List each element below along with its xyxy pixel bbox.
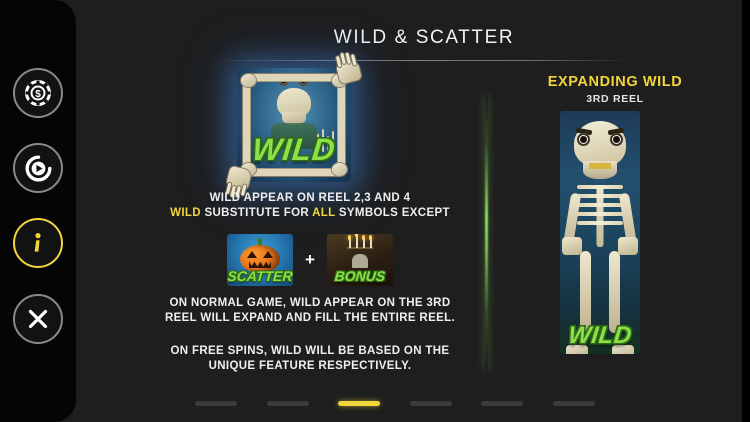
wild-keyword: WILD xyxy=(170,207,201,219)
normal-game-paragraph: ON NORMAL GAME, WILD APPEAR ON THE 3RD R… xyxy=(150,296,470,326)
autoplay-icon xyxy=(25,155,52,182)
svg-text:$: $ xyxy=(35,89,41,100)
expanding-hand-left xyxy=(562,237,582,255)
expanding-hand-right xyxy=(618,237,638,255)
chandelier-icon xyxy=(347,238,373,254)
excluded-symbols-row: SCATTER + BONUS xyxy=(200,234,420,286)
all-keyword: ALL xyxy=(312,207,335,219)
sidebar-item-bet[interactable]: $ xyxy=(13,68,63,118)
tombstone-icon xyxy=(352,254,368,268)
expanding-wild-title: EXPANDING WILD xyxy=(500,74,730,90)
wild-symbol-word: WILD xyxy=(235,132,353,168)
paytable-screen: $ xyxy=(0,0,750,422)
wild-rule-line-2-mid: SUBSTITUTE FOR xyxy=(201,207,312,219)
expanding-leg-left xyxy=(580,251,591,333)
pagination-dot[interactable] xyxy=(338,401,380,406)
pagination xyxy=(195,398,595,408)
pagination-dot[interactable] xyxy=(410,401,452,406)
sidebar-item-close[interactable] xyxy=(13,294,63,344)
expanding-teeth xyxy=(589,163,611,169)
bonus-word: BONUS xyxy=(327,268,393,284)
info-icon xyxy=(27,231,49,255)
title-divider xyxy=(223,60,622,61)
page-title: WILD & SCATTER xyxy=(226,27,622,49)
plus-sign: + xyxy=(305,250,315,270)
sidebar-item-info[interactable] xyxy=(13,218,63,268)
normal-game-line-2: REEL WILL EXPAND AND FILL THE ENTIRE REE… xyxy=(150,311,470,326)
pagination-dot[interactable] xyxy=(553,401,595,406)
bonus-symbol-tile: BONUS xyxy=(327,234,393,286)
free-spins-paragraph: ON FREE SPINS, WILD WILL BE BASED ON THE… xyxy=(150,344,470,374)
wild-rule-line-2: WILD SUBSTITUTE FOR ALL SYMBOLS EXCEPT xyxy=(150,206,470,221)
column-divider xyxy=(485,95,488,370)
scatter-symbol-tile: SCATTER xyxy=(227,234,293,286)
pagination-dot[interactable] xyxy=(481,401,523,406)
expanding-wild-word: WILD xyxy=(560,322,640,350)
expanding-eye-right xyxy=(610,133,623,146)
pagination-dot[interactable] xyxy=(195,401,237,406)
letterbox-right xyxy=(742,0,750,422)
expanding-wild-subtitle: 3RD REEL xyxy=(500,93,730,105)
free-spins-line-2: UNIQUE FEATURE RESPECTIVELY. xyxy=(150,359,470,374)
bet-chip-icon: $ xyxy=(25,80,51,106)
free-spins-line-1: ON FREE SPINS, WILD WILL BE BASED ON THE xyxy=(150,344,470,359)
wild-symbol-tile: WILD xyxy=(237,68,351,182)
normal-game-line-1: ON NORMAL GAME, WILD APPEAR ON THE 3RD xyxy=(150,296,470,311)
pagination-dot[interactable] xyxy=(267,401,309,406)
expanding-leg-right xyxy=(609,251,620,333)
sidebar-item-autoplay[interactable] xyxy=(13,143,63,193)
expanding-wild-right-column: EXPANDING WILD 3RD REEL WILD xyxy=(500,64,730,394)
wild-rule-line-1: WILD APPEAR ON REEL 2,3 AND 4 xyxy=(150,191,470,206)
wild-rules-text: WILD APPEAR ON REEL 2,3 AND 4 WILD SUBST… xyxy=(150,191,470,221)
scatter-word: SCATTER xyxy=(227,268,293,284)
skeleton-hand-top-right xyxy=(336,60,362,85)
wild-rule-line-2-end: SYMBOLS EXCEPT xyxy=(335,207,450,219)
expanding-wild-art: WILD xyxy=(560,111,640,354)
expanding-eye-left xyxy=(577,133,590,146)
expanding-ribcage xyxy=(577,185,623,233)
left-sidebar: $ xyxy=(0,0,76,422)
close-icon xyxy=(26,307,50,331)
wild-scatter-left-column: WILD WILD APPEAR ON REEL 2,3 AND 4 WILD … xyxy=(150,64,470,394)
